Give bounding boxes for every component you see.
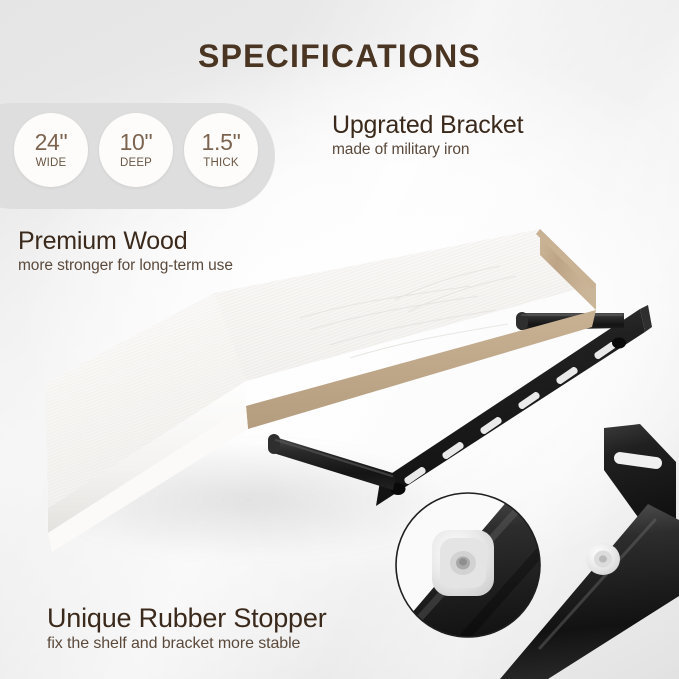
- callout-stopper-subtext: fix the shelf and bracket more stable: [47, 635, 327, 653]
- callout-bracket-subtext: made of military iron: [332, 141, 523, 159]
- rubber-stopper-actual: [586, 543, 620, 575]
- callout-stopper: Unique Rubber Stopper fix the shelf and …: [47, 604, 327, 653]
- badge-depth: 10" DEEP: [99, 113, 173, 187]
- infographic-canvas: SPECIFICATIONS 24" WIDE 10" DEEP 1.5" TH…: [0, 0, 679, 679]
- page-title: SPECIFICATIONS: [0, 38, 679, 75]
- badge-thickness-label: THICK: [203, 157, 239, 169]
- callout-wood: Premium Wood more stronger for long-term…: [18, 228, 233, 275]
- badge-width: 24" WIDE: [14, 113, 88, 187]
- badge-thickness-value: 1.5": [202, 131, 241, 154]
- badge-depth-label: DEEP: [120, 157, 152, 169]
- callout-wood-heading: Premium Wood: [18, 228, 233, 255]
- badge-thickness: 1.5" THICK: [184, 113, 258, 187]
- bracket-rod-lower: [268, 434, 396, 490]
- spec-badges: 24" WIDE 10" DEEP 1.5" THICK: [14, 113, 258, 187]
- callout-wood-subtext: more stronger for long-term use: [18, 257, 233, 275]
- product-svg: [0, 0, 679, 679]
- product-illustration: [0, 0, 679, 679]
- badge-width-label: WIDE: [36, 157, 67, 169]
- callout-bracket-heading: Upgrated Bracket: [332, 112, 523, 139]
- callout-stopper-heading: Unique Rubber Stopper: [47, 604, 327, 633]
- badge-width-value: 24": [35, 131, 68, 154]
- callout-bracket: Upgrated Bracket made of military iron: [332, 112, 523, 159]
- shelf-board: [46, 229, 596, 552]
- badge-depth-value: 10": [120, 131, 153, 154]
